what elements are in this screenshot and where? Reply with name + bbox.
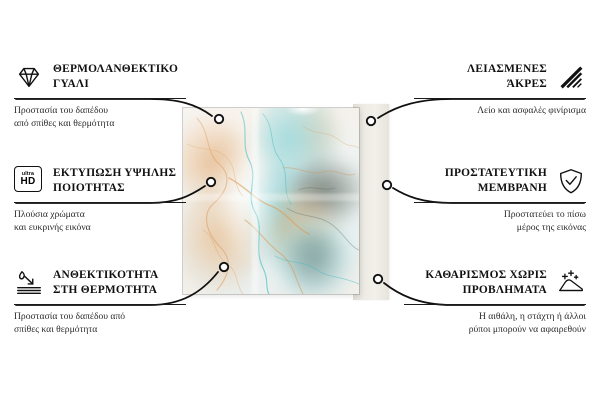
ultra-hd-icon: ultra HD [14, 166, 44, 196]
infographic-canvas: ΘΕΡΜΟΛΑΝΘΕΚΤΙΚΟ ΓΥΑΛΙ Προστασία του δαπέ… [0, 0, 600, 400]
feature-easy-cleaning: ΚΑΘΑΡΙΣΜΟΣ ΧΩΡΙΣ ΠΡΟΒΛΗΜΑΤΑ Η αιθάλη, η … [404, 268, 586, 337]
feature-description: Η αιθάλη, η στάχτη ή άλλοι ρύποι μπορούν… [404, 310, 586, 337]
feature-description: Λείο και ασφαλές φινίρισμα [414, 104, 586, 118]
flame-deflect-icon [14, 268, 44, 298]
feature-heat-durability: ΑΝΘΕΚΤΙΚΟΤΗΤΑ ΣΤΗ ΘΕΡΜΟΤΗΤΑ Προστασία το… [14, 268, 186, 337]
feature-divider [414, 202, 586, 203]
feature-polished-edges: ΛΕΙΑΣΜΕΝΕΣ ΆΚΡΕΣ Λείο και ασφαλές φινίρι… [414, 62, 586, 117]
feature-protective-membrane: ΠΡΟΣΤΑΤΕΥΤΙΚΗ ΜΕΜΒΡΑΝΗ Προστατεύει το πί… [414, 166, 586, 235]
feature-header: ΑΝΘΕΚΤΙΚΟΤΗΤΑ ΣΤΗ ΘΕΡΜΟΤΗΤΑ [14, 268, 186, 299]
easy-clean-icon [556, 268, 586, 298]
feature-title: ΕΚΤΥΠΩΣΗ ΥΨΗΛΗΣ ΠΟΙΟΤΗΤΑΣ [53, 166, 176, 197]
feature-title: ΘΕΡΜΟΛΑΝΘΕΚΤΙΚΟ ΓΥΑΛΙ [53, 62, 178, 93]
feature-divider [14, 304, 186, 305]
shield-check-icon [556, 166, 586, 196]
ink-vein-strokes [183, 108, 359, 294]
feature-description: Προστασία του δαπέδου από σπίθες και θερ… [14, 310, 186, 337]
feature-title: ΚΑΘΑΡΙΣΜΟΣ ΧΩΡΙΣ ΠΡΟΒΛΗΜΑΤΑ [425, 268, 547, 299]
feature-divider [404, 304, 586, 305]
feature-header: ΠΡΟΣΤΑΤΕΥΤΙΚΗ ΜΕΜΒΡΑΝΗ [414, 166, 586, 197]
feature-header: ΘΕΡΜΟΛΑΝΘΕΚΤΙΚΟ ΓΥΑΛΙ [14, 62, 186, 93]
feature-description: Πλούσια χρώματα και ευκρινής εικόνα [14, 208, 186, 235]
feature-header: ultra HD ΕΚΤΥΠΩΣΗ ΥΨΗΛΗΣ ΠΟΙΟΤΗΤΑΣ [14, 166, 186, 197]
ultra-hd-label-bottom: HD [20, 177, 35, 187]
feature-description: Προστασία του δαπέδου από σπίθες και θερ… [14, 104, 186, 131]
feature-title: ΠΡΟΣΤΑΤΕΥΤΙΚΗ ΜΕΜΒΡΑΝΗ [445, 166, 547, 197]
feature-high-quality-print: ultra HD ΕΚΤΥΠΩΣΗ ΥΨΗΛΗΣ ΠΟΙΟΤΗΤΑΣ Πλούσ… [14, 166, 186, 235]
feature-divider [414, 98, 586, 99]
feature-divider [14, 98, 186, 99]
feature-header: ΚΑΘΑΡΙΣΜΟΣ ΧΩΡΙΣ ΠΡΟΒΛΗΜΑΤΑ [404, 268, 586, 299]
feature-header: ΛΕΙΑΣΜΕΝΕΣ ΆΚΡΕΣ [414, 62, 586, 93]
diamond-icon [14, 62, 44, 92]
product-glass-panel [183, 108, 359, 294]
feature-description: Προστατεύει το πίσω μέρος της εικόνας [414, 208, 586, 235]
feature-heat-resistant-glass: ΘΕΡΜΟΛΑΝΘΕΚΤΙΚΟ ΓΥΑΛΙ Προστασία του δαπέ… [14, 62, 186, 131]
polished-edges-icon [556, 62, 586, 92]
feature-divider [14, 202, 186, 203]
feature-title: ΑΝΘΕΚΤΙΚΟΤΗΤΑ ΣΤΗ ΘΕΡΜΟΤΗΤΑ [53, 268, 158, 299]
feature-title: ΛΕΙΑΣΜΕΝΕΣ ΆΚΡΕΣ [467, 62, 547, 93]
